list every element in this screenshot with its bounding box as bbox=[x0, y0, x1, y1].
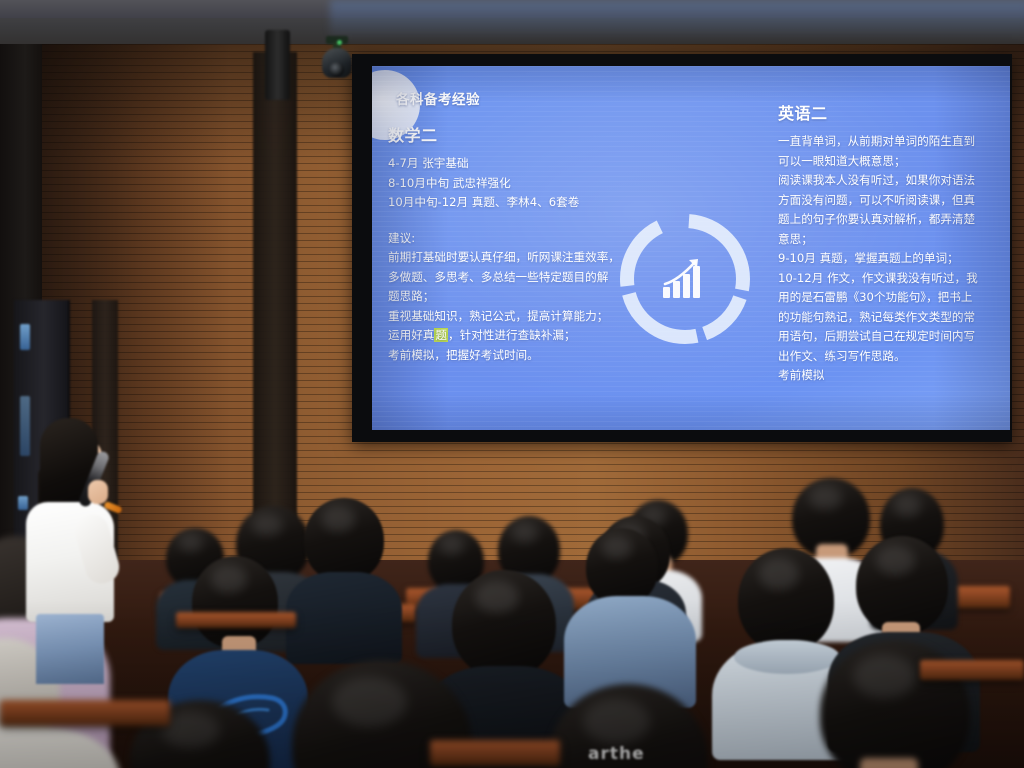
hair-highlight bbox=[512, 523, 538, 543]
english-line: 出作文、练习写作思路。 bbox=[778, 347, 1000, 367]
hair-highlight bbox=[440, 536, 464, 555]
slide-title: 各科备考经验 bbox=[396, 88, 480, 108]
english-line: 题上的句子你要认真对解析，都弄清楚 bbox=[778, 210, 1000, 230]
hoodie-collar bbox=[734, 640, 840, 674]
english-line: 用的是石雷鹏《30个功能句》，把书上 bbox=[778, 288, 1000, 308]
presenter-hand bbox=[88, 480, 108, 504]
english-line: 一直背单词，从前期对单词的陌生直到 bbox=[778, 132, 1000, 152]
presenter-jeans bbox=[36, 614, 104, 684]
english-line: 的功能句熟记，熟记每类作文类型的常 bbox=[778, 308, 1000, 328]
lecture-hall-scene: 各科备考经验 数学二 4-7月 张宇基础 8-10月中旬 武忠祥强化 10月中旬… bbox=[0, 0, 1024, 768]
hair-highlight bbox=[332, 677, 408, 727]
hair-highlight bbox=[894, 495, 921, 517]
head bbox=[304, 498, 384, 582]
shirt-text: arthe bbox=[588, 744, 645, 764]
english-line: 意思； bbox=[778, 230, 1000, 250]
bench-row-front bbox=[430, 740, 560, 766]
hair-highlight bbox=[211, 565, 247, 593]
rack-indicator-light bbox=[20, 324, 30, 350]
right-column-heading: 英语二 bbox=[778, 100, 1000, 124]
bench-row bbox=[920, 660, 1024, 680]
schedule-line: 8-10月中旬 武忠祥强化 bbox=[388, 174, 666, 194]
hair-highlight bbox=[322, 506, 356, 531]
english-line: 考前模拟 bbox=[778, 366, 1000, 386]
ceiling-speaker bbox=[265, 30, 290, 100]
hair-highlight bbox=[179, 534, 203, 552]
hair-highlight bbox=[475, 581, 519, 613]
hair-highlight bbox=[809, 486, 842, 510]
left-column-heading: 数学二 bbox=[388, 122, 666, 146]
projection-screen[interactable]: 各科备考经验 数学二 4-7月 张宇基础 8-10月中旬 武忠祥强化 10月中旬… bbox=[372, 66, 1010, 430]
hair-highlight bbox=[602, 536, 632, 559]
neck bbox=[860, 758, 918, 768]
english-line: 用语句，后期尝试自己在规定时间内写 bbox=[778, 327, 1000, 347]
highlighted-character: 题 bbox=[434, 328, 448, 342]
slide-right-column: 英语二 一直背单词，从前期对单词的陌生直到 可以一眼知道大概意思； 阅读课我本人… bbox=[778, 100, 1000, 386]
bench-row-front bbox=[0, 700, 170, 726]
donut-chart bbox=[610, 204, 760, 354]
torso bbox=[286, 572, 402, 664]
english-line: 10-12月 作文，作文课我没有听过，我 bbox=[778, 269, 1000, 289]
hair-highlight bbox=[583, 699, 650, 744]
head bbox=[452, 570, 556, 678]
advice-line-part-a: 运用好真题，针对性进行查缺补漏； bbox=[388, 328, 576, 342]
security-camera-icon bbox=[320, 36, 354, 82]
bar-chart-growth-icon bbox=[659, 257, 711, 301]
camera-lens bbox=[329, 62, 344, 77]
english-line: 可以一眼知道大概意思； bbox=[778, 152, 1000, 172]
head bbox=[192, 556, 278, 648]
hair-highlight bbox=[876, 546, 915, 575]
english-line: 9-10月 真题，掌握真题上的单词； bbox=[778, 249, 1000, 269]
hair-highlight bbox=[252, 514, 283, 537]
schedule-line: 4-7月 张宇基础 bbox=[388, 154, 666, 174]
presenter bbox=[18, 418, 138, 678]
hair-highlight bbox=[853, 655, 916, 699]
ceiling-light-glow bbox=[330, 0, 1024, 40]
camera-indicator-led bbox=[337, 40, 342, 45]
head bbox=[856, 536, 948, 634]
head bbox=[586, 528, 658, 606]
bench-row bbox=[176, 612, 296, 628]
english-line: 阅读课我本人没有听过，如果你对语法 bbox=[778, 171, 1000, 191]
english-line: 方面没有问题，可以不听阅读课，但真 bbox=[778, 191, 1000, 211]
head bbox=[738, 548, 834, 652]
hair-highlight bbox=[759, 558, 799, 589]
